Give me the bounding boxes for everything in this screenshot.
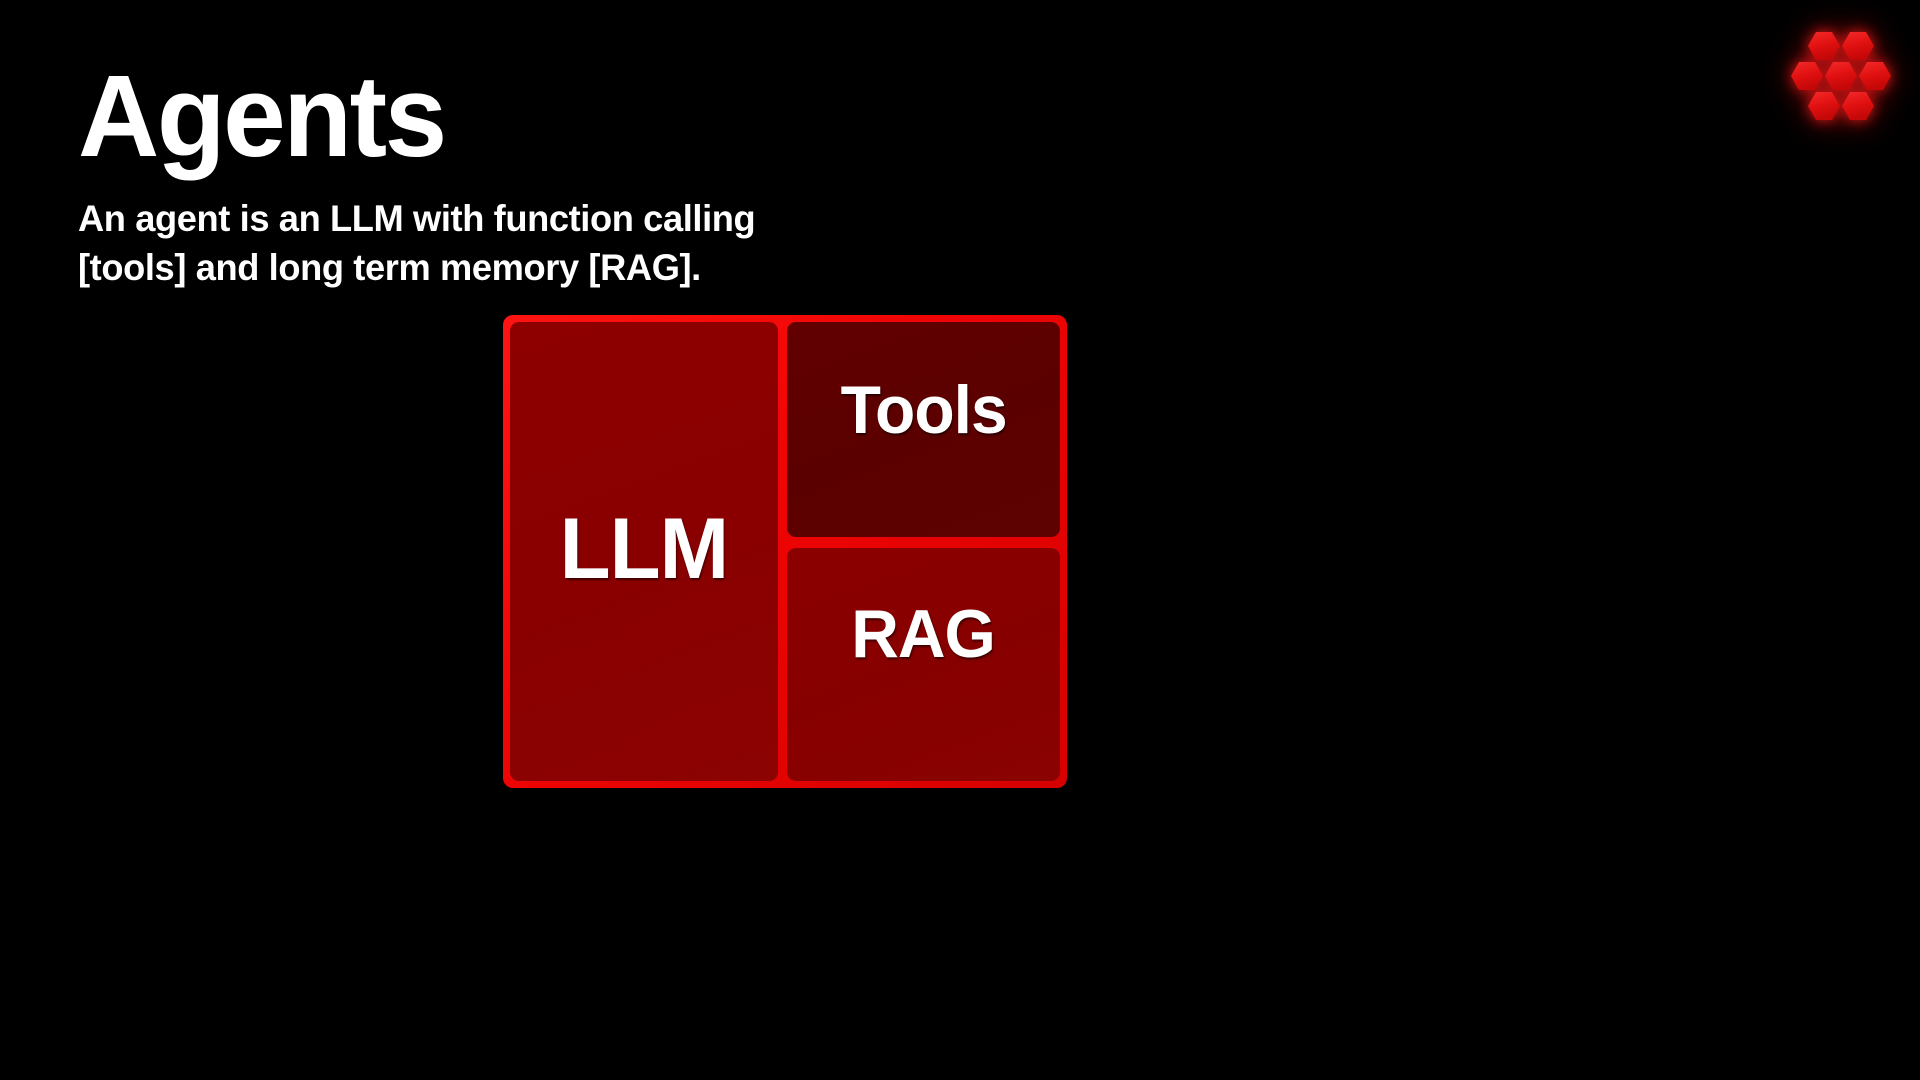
diagram-node-tools-label: Tools xyxy=(840,376,1006,444)
diagram-node-llm-label: LLM xyxy=(560,506,728,592)
heading-block: Agents An agent is an LLM with function … xyxy=(78,58,1178,292)
agent-architecture-diagram: LLM Tools RAG xyxy=(503,315,1067,788)
honeycomb-hexagon-logo-icon xyxy=(1782,22,1900,140)
slide-root: Agents An agent is an LLM with function … xyxy=(0,0,1920,1080)
diagram-node-rag[interactable]: RAG xyxy=(787,548,1060,781)
page-title: Agents xyxy=(78,58,1145,174)
subtitle-line-2: [tools] and long term memory [RAG]. xyxy=(78,243,1156,292)
diagram-node-rag-label: RAG xyxy=(852,600,996,668)
diagram-left-column: LLM xyxy=(510,322,778,781)
diagram-node-tools[interactable]: Tools xyxy=(787,322,1060,537)
diagram-right-column: Tools RAG xyxy=(787,322,1060,781)
slide-subtitle: An agent is an LLM with function calling… xyxy=(78,194,1156,292)
diagram-node-llm[interactable]: LLM xyxy=(510,322,778,781)
subtitle-line-1: An agent is an LLM with function calling xyxy=(78,194,1156,243)
